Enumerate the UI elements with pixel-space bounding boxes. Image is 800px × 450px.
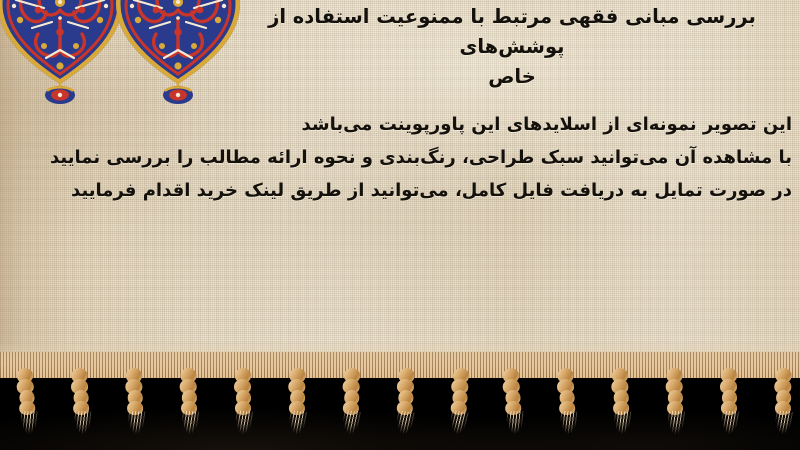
ornament-medallion — [0, 0, 122, 96]
slide-body-line-2: با مشاهده آن می‌توانید سبک طراحی، رنگ‌بن… — [8, 141, 792, 174]
slide-canvas: بررسی مبانی فقهی مرتبط با ممنوعیت استفاد… — [0, 0, 800, 450]
slide-body: این تصویر نمونه‌ای از اسلایدهای این پاور… — [8, 108, 792, 207]
persian-illumination-ornament-right — [112, 0, 244, 106]
rug-black-field — [0, 370, 800, 450]
ornament-pendant — [45, 86, 75, 104]
slide-title: بررسی مبانی فقهی مرتبط با ممنوعیت استفاد… — [232, 2, 792, 92]
slide-body-line-3: در صورت تمایل به دریافت فایل کامل، می‌تو… — [8, 174, 792, 207]
slide-title-line-1: بررسی مبانی فقهی مرتبط با ممنوعیت استفاد… — [268, 5, 756, 58]
slide-body-line-1: این تصویر نمونه‌ای از اسلایدهای این پاور… — [8, 108, 792, 141]
slide-title-line-2: خاص — [488, 65, 536, 88]
ornament-medallion — [116, 0, 240, 96]
persian-illumination-ornament-left — [0, 0, 126, 106]
ornament-pendant — [163, 86, 193, 104]
